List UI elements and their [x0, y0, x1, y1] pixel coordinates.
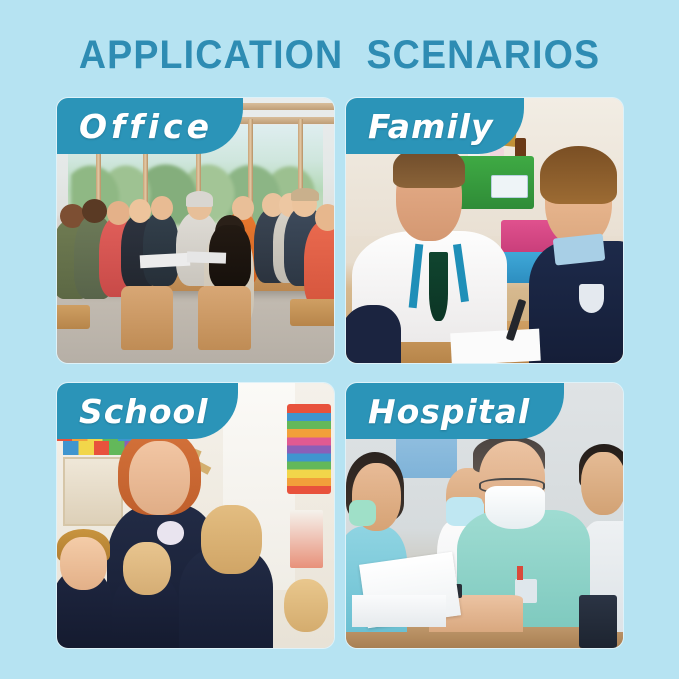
card-label-text: Office [79, 110, 213, 143]
card-label-hospital: Hospital [346, 383, 564, 439]
scenario-grid: Office [57, 98, 623, 648]
page-title: APPLICATION SCENARIOS [20, 33, 658, 78]
scenario-card-hospital[interactable]: Hospital [346, 383, 623, 648]
card-label-text: Family [368, 110, 494, 143]
card-label-school: School [57, 383, 238, 439]
card-label-text: Hospital [368, 395, 530, 428]
card-label-family: Family [346, 98, 524, 154]
scenario-card-school[interactable]: School [57, 383, 334, 648]
scenario-card-office[interactable]: Office [57, 98, 334, 363]
scenario-card-family[interactable]: Family [346, 98, 623, 363]
card-label-text: School [79, 395, 208, 428]
card-label-office: Office [57, 98, 243, 154]
